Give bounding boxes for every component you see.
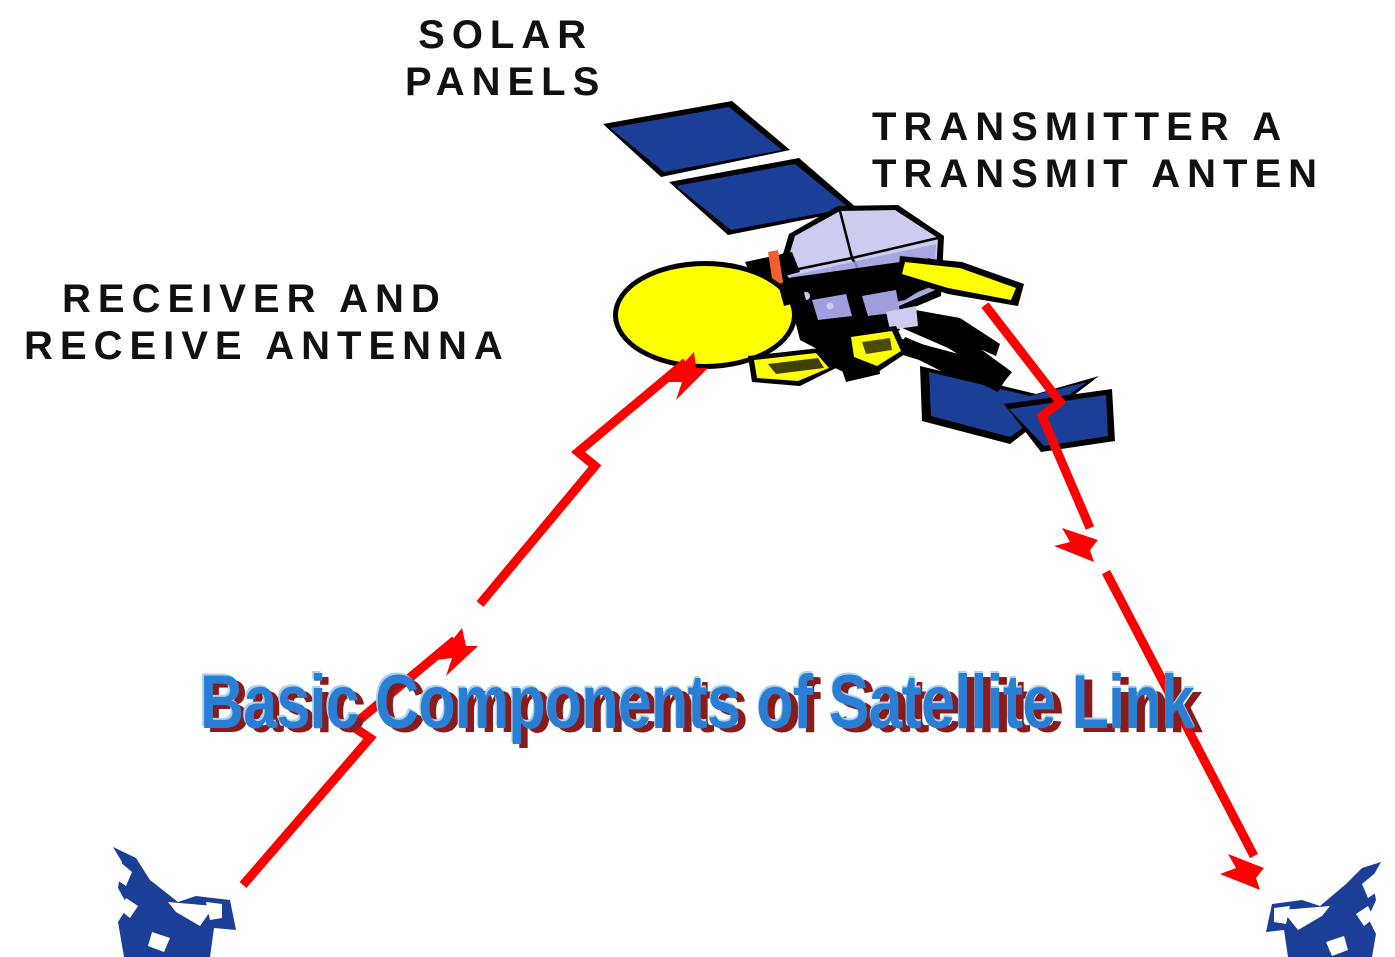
title-face: Basic Components of Satellite Link xyxy=(200,660,1195,745)
signal-paths xyxy=(0,0,1395,957)
diagram-canvas: SOLAR PANELS TRANSMITTER A TRANSMIT ANTE… xyxy=(0,0,1395,957)
uplink-arrowhead-2 xyxy=(666,352,708,400)
downlink-arrowhead-2 xyxy=(1220,854,1264,890)
uplink-signal-segment-2 xyxy=(480,362,686,604)
downlink-signal-segment-1 xyxy=(985,305,1090,528)
page-title: Basic Components of Satellite Link Basic… xyxy=(196,660,1198,748)
downlink-arrowhead-1 xyxy=(1054,528,1098,562)
